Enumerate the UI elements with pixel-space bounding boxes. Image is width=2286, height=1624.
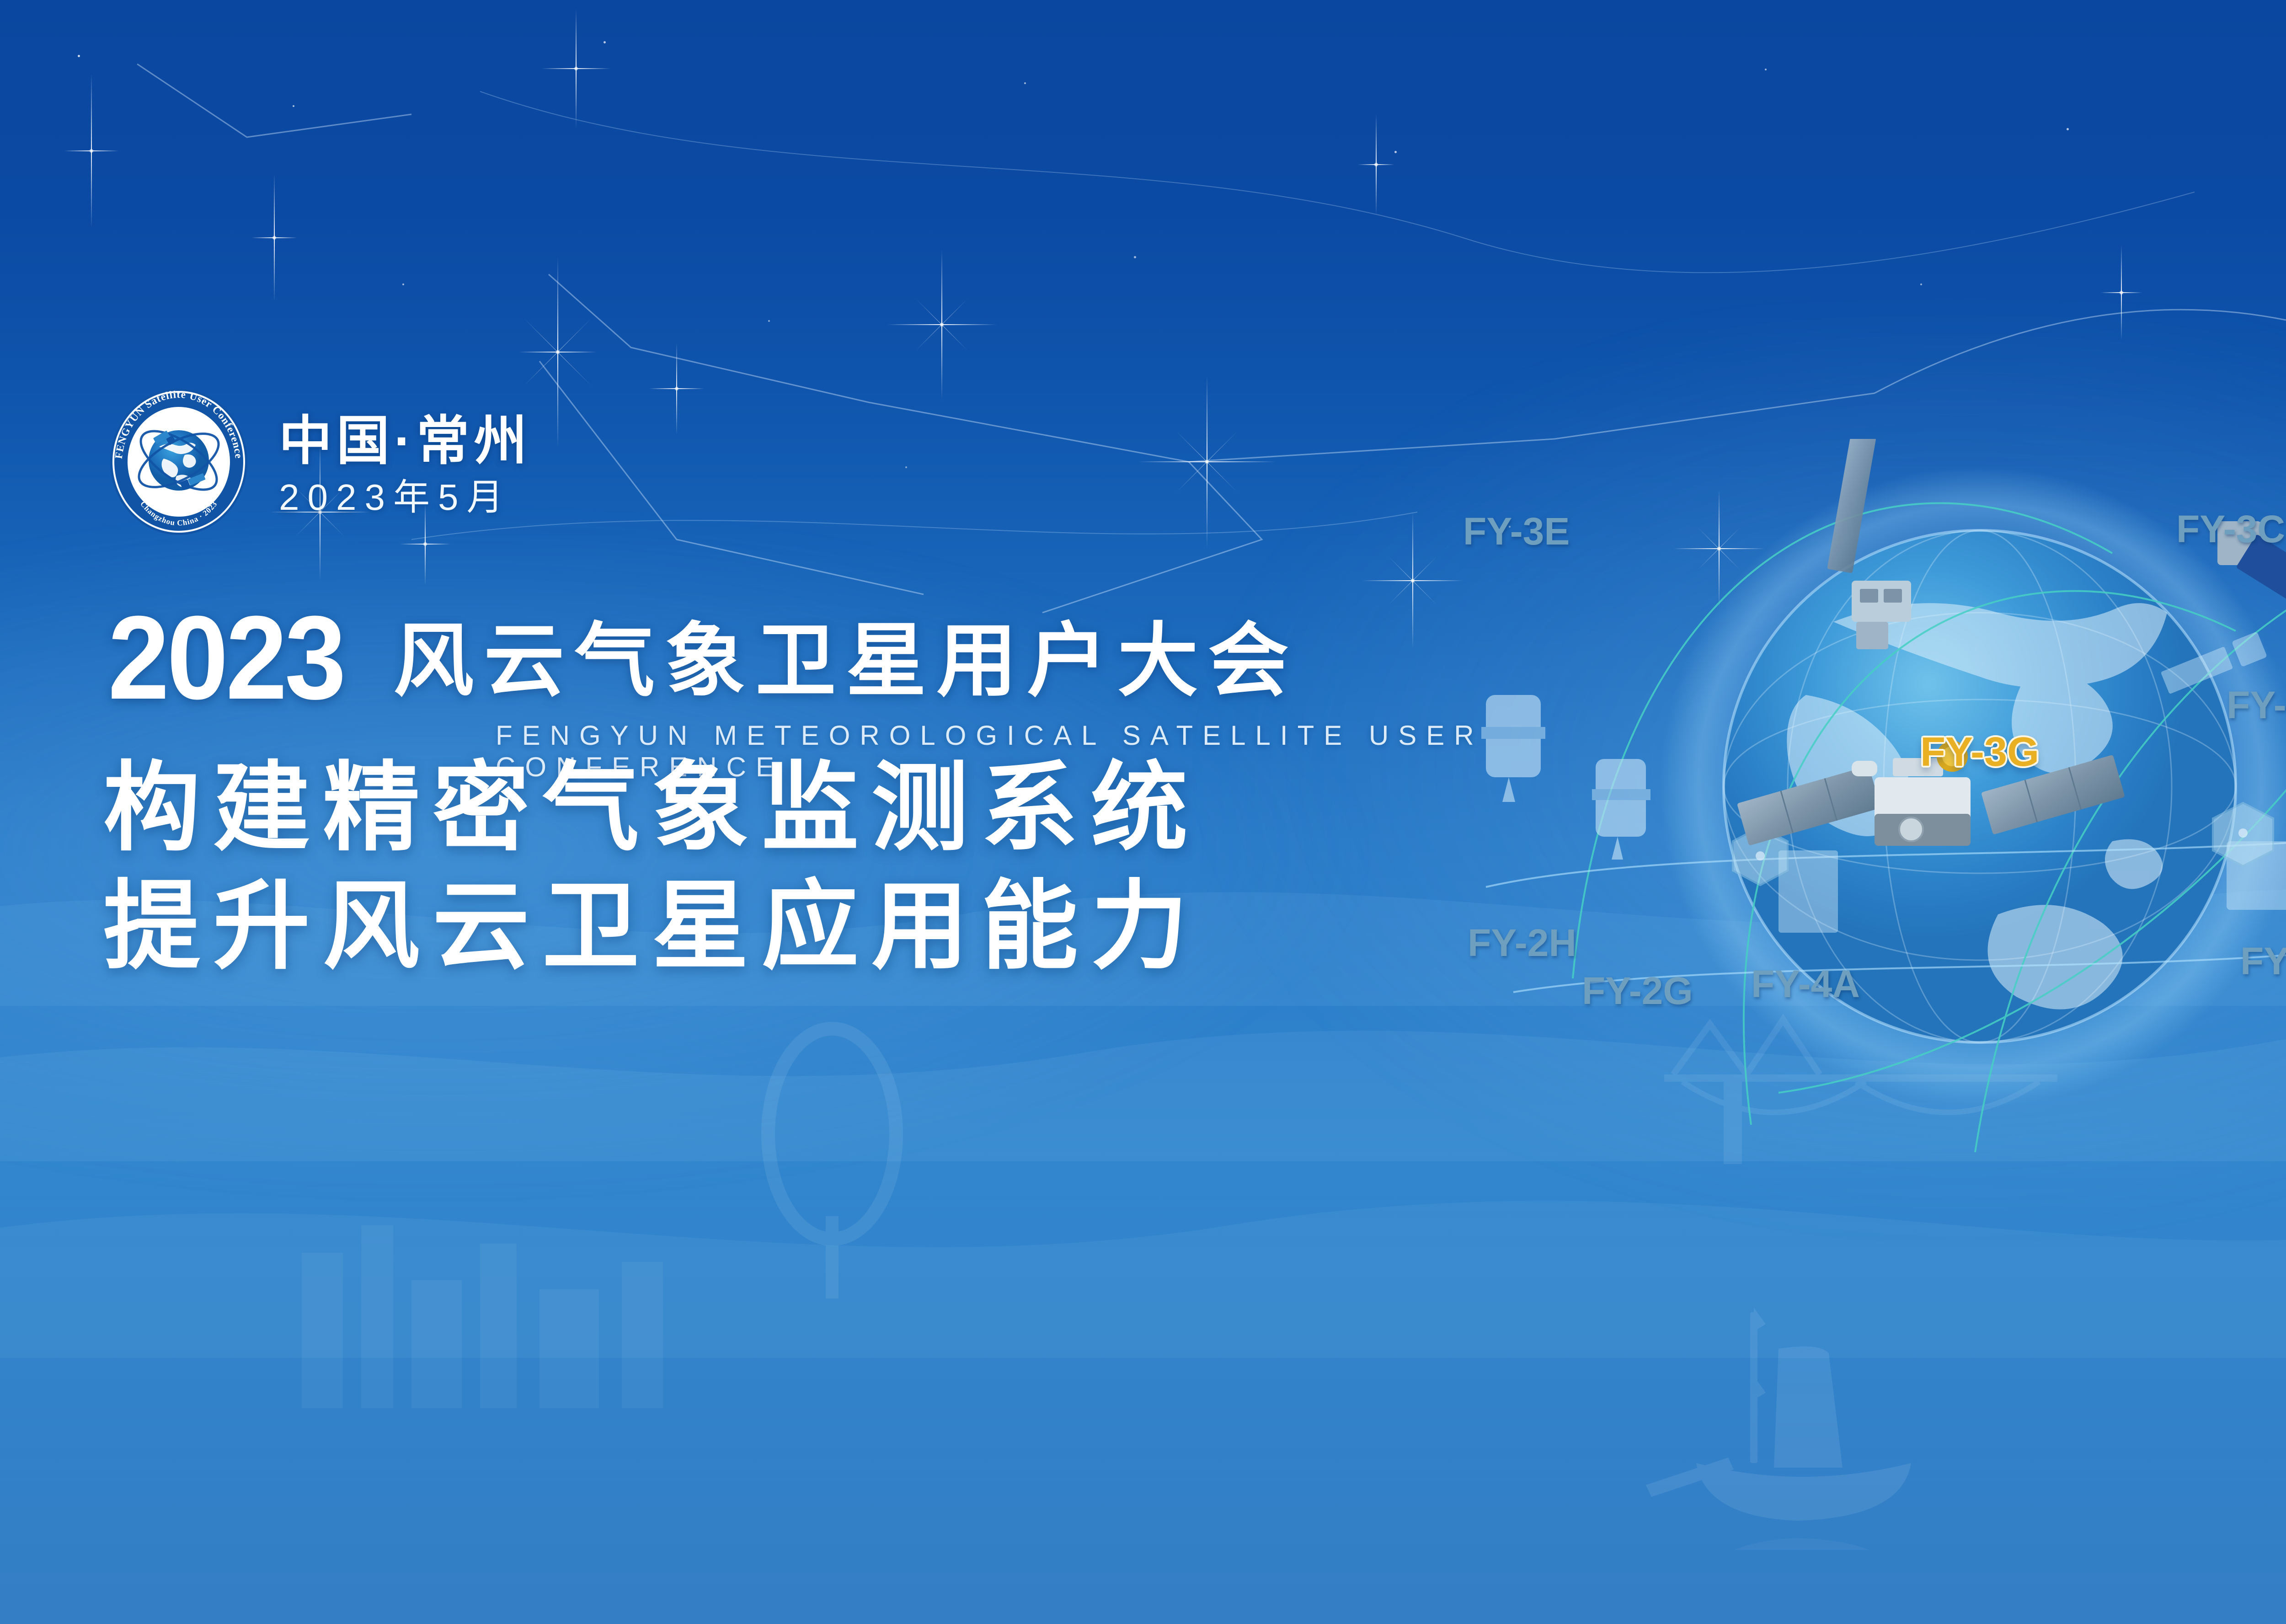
logo-and-location-block: FENGYUN Satellite User Conference Changz…: [108, 386, 532, 537]
satellite-label-fy3d: FY-3D: [2227, 686, 2286, 724]
globe-visualization: FY-3E FY-3C FY-3D FY-3G FY-2H FY-2G FY-4…: [1458, 439, 2286, 1189]
satellite-label-fy3g: FY-3G: [1920, 732, 2039, 773]
date-text: 2023年5月: [279, 479, 532, 516]
boat-silhouette: [1628, 1294, 1984, 1550]
satellite-label-fy2g: FY-2G: [1582, 972, 1693, 1010]
satellite-label-fy4a: FY-4A: [1751, 965, 1860, 1003]
satellite-label-fy3c: FY-3C: [2176, 510, 2285, 548]
year-text: 2023: [108, 608, 344, 708]
satellite-label-fy3e: FY-3E: [1463, 512, 1570, 550]
conference-emblem-icon: FENGYUN Satellite User Conference Changz…: [108, 386, 250, 537]
location-date-block: 中国·常州 2023年5月: [279, 408, 532, 516]
conference-poster: FENGYUN Satellite User Conference Changz…: [0, 0, 2286, 1624]
conference-title-cn: 风云气象卫星用户大会: [393, 621, 1298, 708]
location-text: 中国·常州: [279, 414, 532, 467]
slogan-line-2: 提升风云卫星应用能力: [103, 872, 1201, 980]
slogan-block: 构建精密气象监测系统 提升风云卫星应用能力: [103, 753, 1201, 981]
satellite-label-fy2h: FY-2H: [1468, 924, 1576, 962]
satellite-label-fy4b: FY-4B: [2240, 942, 2286, 980]
slogan-line-1: 构建精密气象监测系统: [103, 753, 1201, 862]
